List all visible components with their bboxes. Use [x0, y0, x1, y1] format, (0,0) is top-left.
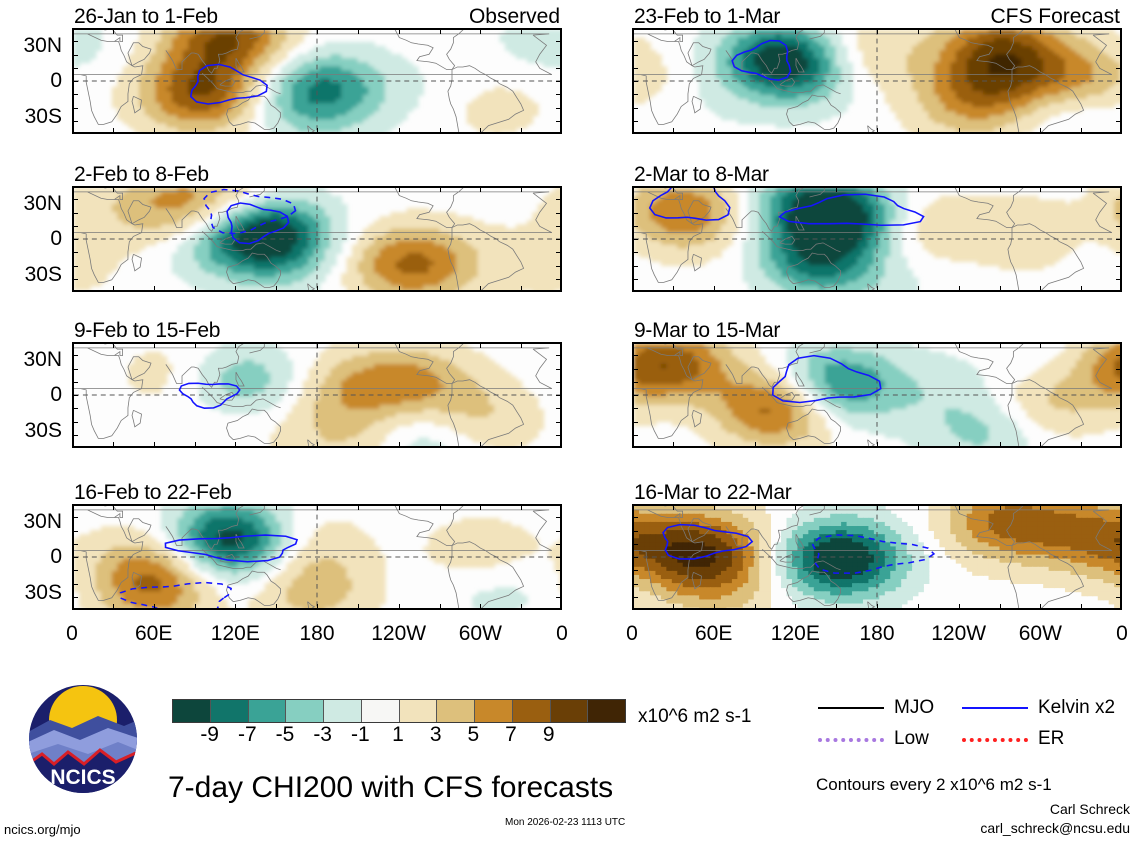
- x-tick-mark: [195, 442, 196, 447]
- x-tick-mark: [755, 187, 756, 192]
- y-tick-mark: [556, 369, 561, 370]
- x-tick-mark: [673, 187, 674, 192]
- x-tick-mark: [795, 128, 796, 133]
- column-label: CFS Forecast: [632, 5, 1120, 29]
- x-tick-mark: [195, 187, 196, 192]
- y-tick-mark: [73, 408, 78, 409]
- y-tick-mark: [1116, 435, 1121, 436]
- x-tick-mark: [440, 343, 441, 348]
- map-panel[interactable]: [72, 28, 562, 134]
- y-axis-tick-30S: 30S: [0, 263, 62, 287]
- x-tick-mark: [755, 442, 756, 447]
- colorbar-swatch: [249, 700, 287, 722]
- x-tick-mark: [195, 286, 196, 291]
- x-tick-mark: [276, 286, 277, 291]
- y-tick-mark: [556, 597, 561, 598]
- y-tick-mark: [1116, 584, 1121, 585]
- y-axis-tick-30S: 30S: [0, 419, 62, 443]
- y-tick-mark: [73, 94, 78, 95]
- map-panel[interactable]: [72, 186, 562, 292]
- map-panel[interactable]: [72, 504, 562, 610]
- x-tick-mark: [480, 29, 481, 34]
- y-tick-mark: [633, 121, 638, 122]
- x-axis-tick-6: 0: [1077, 622, 1135, 646]
- x-axis-tick-6: 0: [517, 622, 607, 646]
- x-tick-mark: [836, 442, 837, 447]
- x-tick-mark: [480, 128, 481, 133]
- x-tick-mark: [1000, 286, 1001, 291]
- x-tick-mark: [276, 128, 277, 133]
- colorbar-swatch: [475, 700, 513, 722]
- x-tick-mark: [959, 29, 960, 34]
- colorbar: [172, 699, 626, 723]
- x-tick-mark: [113, 286, 114, 291]
- y-tick-mark: [633, 226, 638, 227]
- y-tick-mark: [556, 355, 561, 356]
- y-tick-mark: [1116, 517, 1121, 518]
- y-tick-mark: [556, 531, 561, 532]
- colorbar-tick: 9: [519, 723, 579, 747]
- panel-title: 9-Feb to 15-Feb: [74, 319, 220, 343]
- x-tick-mark: [1000, 29, 1001, 34]
- x-tick-mark: [317, 442, 318, 447]
- x-tick-mark: [195, 29, 196, 34]
- y-tick-mark: [73, 584, 78, 585]
- colorbar-swatch: [286, 700, 324, 722]
- y-tick-mark: [633, 68, 638, 69]
- y-tick-mark: [1116, 557, 1121, 558]
- x-tick-mark: [673, 604, 674, 609]
- x-tick-mark: [521, 343, 522, 348]
- y-tick-mark: [556, 199, 561, 200]
- x-tick-mark: [714, 128, 715, 133]
- x-tick-mark: [154, 343, 155, 348]
- x-tick-mark: [1081, 442, 1082, 447]
- x-tick-mark: [836, 604, 837, 609]
- y-tick-mark: [73, 199, 78, 200]
- panel-title: 16-Mar to 22-Mar: [634, 481, 791, 505]
- y-tick-mark: [1116, 68, 1121, 69]
- y-tick-mark: [633, 94, 638, 95]
- x-tick-mark: [1040, 29, 1041, 34]
- y-tick-mark: [73, 266, 78, 267]
- x-tick-mark: [276, 187, 277, 192]
- y-tick-mark: [556, 266, 561, 267]
- y-tick-mark: [556, 557, 561, 558]
- site-url[interactable]: ncics.org/mjo: [4, 822, 81, 837]
- y-tick-mark: [556, 55, 561, 56]
- x-tick-mark: [235, 505, 236, 510]
- x-tick-mark: [795, 286, 796, 291]
- x-tick-mark: [795, 505, 796, 510]
- x-tick-mark: [1000, 128, 1001, 133]
- x-tick-mark: [877, 505, 878, 510]
- y-tick-mark: [73, 557, 78, 558]
- x-tick-mark: [480, 286, 481, 291]
- x-tick-mark: [918, 286, 919, 291]
- y-tick-mark: [633, 395, 638, 396]
- x-tick-mark: [795, 604, 796, 609]
- x-tick-mark: [836, 505, 837, 510]
- x-tick-mark: [673, 343, 674, 348]
- author-name: Carl Schreck: [830, 801, 1130, 817]
- x-tick-mark: [276, 442, 277, 447]
- y-tick-mark: [633, 108, 638, 109]
- x-tick-mark: [317, 128, 318, 133]
- x-tick-mark: [235, 442, 236, 447]
- y-tick-mark: [633, 355, 638, 356]
- x-tick-mark: [521, 128, 522, 133]
- y-tick-mark: [556, 408, 561, 409]
- column-label: Observed: [72, 5, 560, 29]
- y-tick-mark: [633, 252, 638, 253]
- x-tick-mark: [755, 286, 756, 291]
- y-tick-mark: [1116, 239, 1121, 240]
- colorbar-swatch: [437, 700, 475, 722]
- map-panel[interactable]: [632, 186, 1122, 292]
- x-tick-mark: [1000, 442, 1001, 447]
- y-tick-mark: [73, 422, 78, 423]
- y-tick-mark: [73, 213, 78, 214]
- x-tick-mark: [440, 505, 441, 510]
- x-tick-mark: [154, 442, 155, 447]
- x-axis-tick-4: 120W: [354, 622, 444, 646]
- x-axis-tick-2: 120E: [190, 622, 280, 646]
- author-email[interactable]: carl_schreck@ncsu.edu: [830, 820, 1130, 836]
- x-tick-mark: [1040, 128, 1041, 133]
- x-tick-mark: [358, 128, 359, 133]
- x-tick-mark: [836, 343, 837, 348]
- x-tick-mark: [440, 29, 441, 34]
- y-tick-mark: [1116, 422, 1121, 423]
- y-tick-mark: [556, 422, 561, 423]
- colorbar-swatch: [362, 700, 400, 722]
- y-axis-tick-30N: 30N: [0, 34, 62, 58]
- y-tick-mark: [1116, 570, 1121, 571]
- y-tick-mark: [556, 279, 561, 280]
- y-tick-mark: [633, 81, 638, 82]
- x-tick-mark: [521, 29, 522, 34]
- colorbar-swatch: [513, 700, 551, 722]
- y-tick-mark: [1116, 108, 1121, 109]
- y-tick-mark: [633, 557, 638, 558]
- x-tick-mark: [480, 505, 481, 510]
- x-tick-mark: [358, 187, 359, 192]
- x-tick-mark: [877, 604, 878, 609]
- legend-label: ER: [1038, 728, 1064, 750]
- x-tick-mark: [755, 343, 756, 348]
- x-tick-mark: [154, 128, 155, 133]
- map-canvas: [634, 30, 1120, 132]
- y-tick-mark: [1116, 213, 1121, 214]
- x-tick-mark: [836, 29, 837, 34]
- x-tick-mark: [154, 286, 155, 291]
- y-tick-mark: [633, 570, 638, 571]
- colorbar-swatch: [400, 700, 438, 722]
- x-tick-mark: [154, 29, 155, 34]
- x-tick-mark: [317, 286, 318, 291]
- x-tick-mark: [399, 187, 400, 192]
- x-tick-mark: [1040, 286, 1041, 291]
- y-tick-mark: [633, 584, 638, 585]
- x-tick-mark: [877, 343, 878, 348]
- x-tick-mark: [1081, 187, 1082, 192]
- x-tick-mark: [714, 29, 715, 34]
- colorbar-unit-label: x10^6 m2 s-1: [638, 706, 751, 728]
- y-tick-mark: [1116, 226, 1121, 227]
- y-tick-mark: [556, 395, 561, 396]
- x-tick-mark: [1040, 187, 1041, 192]
- x-tick-mark: [440, 187, 441, 192]
- y-tick-mark: [556, 108, 561, 109]
- y-tick-mark: [633, 199, 638, 200]
- y-tick-mark: [73, 382, 78, 383]
- y-tick-mark: [556, 239, 561, 240]
- x-tick-mark: [877, 128, 878, 133]
- y-tick-mark: [633, 544, 638, 545]
- x-tick-mark: [235, 604, 236, 609]
- y-tick-mark: [1116, 41, 1121, 42]
- x-tick-mark: [399, 442, 400, 447]
- y-tick-mark: [73, 355, 78, 356]
- y-tick-mark: [556, 226, 561, 227]
- x-tick-mark: [714, 604, 715, 609]
- x-tick-mark: [113, 505, 114, 510]
- x-tick-mark: [959, 604, 960, 609]
- x-tick-mark: [918, 128, 919, 133]
- y-tick-mark: [556, 252, 561, 253]
- x-tick-mark: [836, 187, 837, 192]
- x-tick-mark: [795, 343, 796, 348]
- y-tick-mark: [73, 597, 78, 598]
- map-panel[interactable]: [632, 28, 1122, 134]
- y-tick-mark: [73, 544, 78, 545]
- legend-line-mjo: [818, 707, 884, 709]
- x-tick-mark: [521, 505, 522, 510]
- x-tick-mark: [440, 442, 441, 447]
- x-tick-mark: [358, 442, 359, 447]
- y-tick-mark: [633, 55, 638, 56]
- y-axis-tick-30S: 30S: [0, 105, 62, 129]
- x-tick-mark: [959, 286, 960, 291]
- x-axis-tick-1: 60E: [109, 622, 199, 646]
- x-tick-mark: [154, 187, 155, 192]
- x-axis-tick-1: 60E: [669, 622, 759, 646]
- x-tick-mark: [1081, 128, 1082, 133]
- x-tick-mark: [1000, 505, 1001, 510]
- y-tick-mark: [633, 266, 638, 267]
- y-tick-mark: [556, 94, 561, 95]
- y-tick-mark: [633, 41, 638, 42]
- ncics-logo: NCICS: [28, 684, 138, 794]
- y-tick-mark: [1116, 266, 1121, 267]
- map-canvas: [74, 344, 560, 446]
- y-tick-mark: [73, 55, 78, 56]
- y-tick-mark: [1116, 279, 1121, 280]
- y-tick-mark: [556, 570, 561, 571]
- y-axis-tick-30N: 30N: [0, 348, 62, 372]
- y-tick-mark: [556, 213, 561, 214]
- y-tick-mark: [73, 435, 78, 436]
- y-axis-tick-30S: 30S: [0, 581, 62, 605]
- x-tick-mark: [480, 604, 481, 609]
- y-tick-mark: [1116, 55, 1121, 56]
- panel-title: 2-Mar to 8-Mar: [634, 163, 769, 187]
- x-tick-mark: [959, 442, 960, 447]
- x-tick-mark: [480, 187, 481, 192]
- x-tick-mark: [399, 286, 400, 291]
- y-tick-mark: [1116, 252, 1121, 253]
- y-tick-mark: [633, 369, 638, 370]
- y-axis-tick-0: 0: [0, 545, 62, 569]
- x-tick-mark: [918, 343, 919, 348]
- y-tick-mark: [633, 239, 638, 240]
- y-tick-mark: [1116, 121, 1121, 122]
- x-tick-mark: [440, 604, 441, 609]
- x-tick-mark: [1000, 604, 1001, 609]
- y-tick-mark: [633, 408, 638, 409]
- contour-interval-note: Contours every 2 x10^6 m2 s-1: [816, 775, 1052, 795]
- panel-title: 9-Mar to 15-Mar: [634, 319, 780, 343]
- x-tick-mark: [1040, 343, 1041, 348]
- x-tick-mark: [795, 29, 796, 34]
- legend-label: Low: [894, 728, 929, 750]
- x-tick-mark: [1000, 343, 1001, 348]
- legend-label: Kelvin x2: [1038, 697, 1115, 719]
- x-tick-mark: [235, 286, 236, 291]
- x-tick-mark: [358, 343, 359, 348]
- x-tick-mark: [195, 505, 196, 510]
- map-panel[interactable]: [632, 504, 1122, 610]
- x-tick-mark: [113, 128, 114, 133]
- x-tick-mark: [154, 505, 155, 510]
- x-tick-mark: [918, 187, 919, 192]
- y-tick-mark: [73, 395, 78, 396]
- y-tick-mark: [556, 382, 561, 383]
- x-tick-mark: [673, 286, 674, 291]
- y-tick-mark: [633, 517, 638, 518]
- x-tick-mark: [1040, 604, 1041, 609]
- y-tick-mark: [633, 422, 638, 423]
- y-tick-mark: [1116, 94, 1121, 95]
- x-tick-mark: [113, 187, 114, 192]
- x-tick-mark: [918, 442, 919, 447]
- x-tick-mark: [836, 286, 837, 291]
- x-axis-tick-0: 0: [27, 622, 117, 646]
- x-tick-mark: [755, 128, 756, 133]
- y-tick-mark: [73, 121, 78, 122]
- x-tick-mark: [399, 29, 400, 34]
- colorbar-swatch: [211, 700, 249, 722]
- x-tick-mark: [673, 442, 674, 447]
- y-tick-mark: [1116, 408, 1121, 409]
- x-tick-mark: [276, 604, 277, 609]
- x-axis-tick-4: 120W: [914, 622, 1004, 646]
- y-tick-mark: [556, 121, 561, 122]
- x-tick-mark: [399, 505, 400, 510]
- y-tick-mark: [73, 252, 78, 253]
- y-axis-tick-0: 0: [0, 383, 62, 407]
- y-tick-mark: [556, 544, 561, 545]
- y-tick-mark: [1116, 81, 1121, 82]
- x-tick-mark: [480, 442, 481, 447]
- map-canvas: [74, 506, 560, 608]
- colorbar-swatch: [588, 700, 625, 722]
- x-tick-mark: [877, 187, 878, 192]
- x-tick-mark: [714, 343, 715, 348]
- map-canvas: [74, 188, 560, 290]
- map-panel[interactable]: [632, 342, 1122, 448]
- panel-title: 2-Feb to 8-Feb: [74, 163, 209, 187]
- x-tick-mark: [673, 128, 674, 133]
- x-axis-tick-3: 180: [832, 622, 922, 646]
- x-tick-mark: [276, 29, 277, 34]
- y-tick-mark: [633, 531, 638, 532]
- y-tick-mark: [1116, 199, 1121, 200]
- x-tick-mark: [1040, 505, 1041, 510]
- x-tick-mark: [399, 343, 400, 348]
- x-tick-mark: [959, 187, 960, 192]
- x-tick-mark: [440, 286, 441, 291]
- colorbar-swatch: [324, 700, 362, 722]
- x-tick-mark: [235, 128, 236, 133]
- x-axis-tick-5: 60W: [435, 622, 525, 646]
- x-tick-mark: [480, 343, 481, 348]
- y-tick-mark: [633, 382, 638, 383]
- map-canvas: [634, 344, 1120, 446]
- y-tick-mark: [73, 517, 78, 518]
- y-tick-mark: [1116, 597, 1121, 598]
- x-tick-mark: [276, 505, 277, 510]
- y-tick-mark: [73, 226, 78, 227]
- page-title: 7-day CHI200 with CFS forecasts: [168, 771, 613, 805]
- map-canvas: [74, 30, 560, 132]
- x-axis-tick-5: 60W: [995, 622, 1085, 646]
- x-tick-mark: [358, 505, 359, 510]
- y-tick-mark: [556, 435, 561, 436]
- x-tick-mark: [877, 442, 878, 447]
- legend-line-low: [818, 738, 884, 742]
- x-tick-mark: [755, 29, 756, 34]
- y-axis-tick-0: 0: [0, 227, 62, 251]
- timestamp: Mon 2026-02-23 1113 UTC: [505, 817, 625, 828]
- x-tick-mark: [755, 604, 756, 609]
- x-tick-mark: [959, 505, 960, 510]
- x-tick-mark: [1040, 442, 1041, 447]
- map-canvas: [634, 506, 1120, 608]
- x-tick-mark: [959, 128, 960, 133]
- x-tick-mark: [521, 286, 522, 291]
- y-axis-tick-30N: 30N: [0, 510, 62, 534]
- x-tick-mark: [959, 343, 960, 348]
- x-tick-mark: [195, 343, 196, 348]
- colorbar-swatch: [173, 700, 211, 722]
- x-tick-mark: [521, 604, 522, 609]
- x-tick-mark: [399, 604, 400, 609]
- x-tick-mark: [1081, 29, 1082, 34]
- x-tick-mark: [714, 286, 715, 291]
- x-tick-mark: [673, 29, 674, 34]
- y-tick-mark: [633, 597, 638, 598]
- x-tick-mark: [235, 29, 236, 34]
- x-tick-mark: [918, 604, 919, 609]
- x-tick-mark: [113, 343, 114, 348]
- map-panel[interactable]: [72, 342, 562, 448]
- x-tick-mark: [714, 187, 715, 192]
- y-tick-mark: [73, 570, 78, 571]
- y-axis-tick-30N: 30N: [0, 192, 62, 216]
- x-tick-mark: [358, 604, 359, 609]
